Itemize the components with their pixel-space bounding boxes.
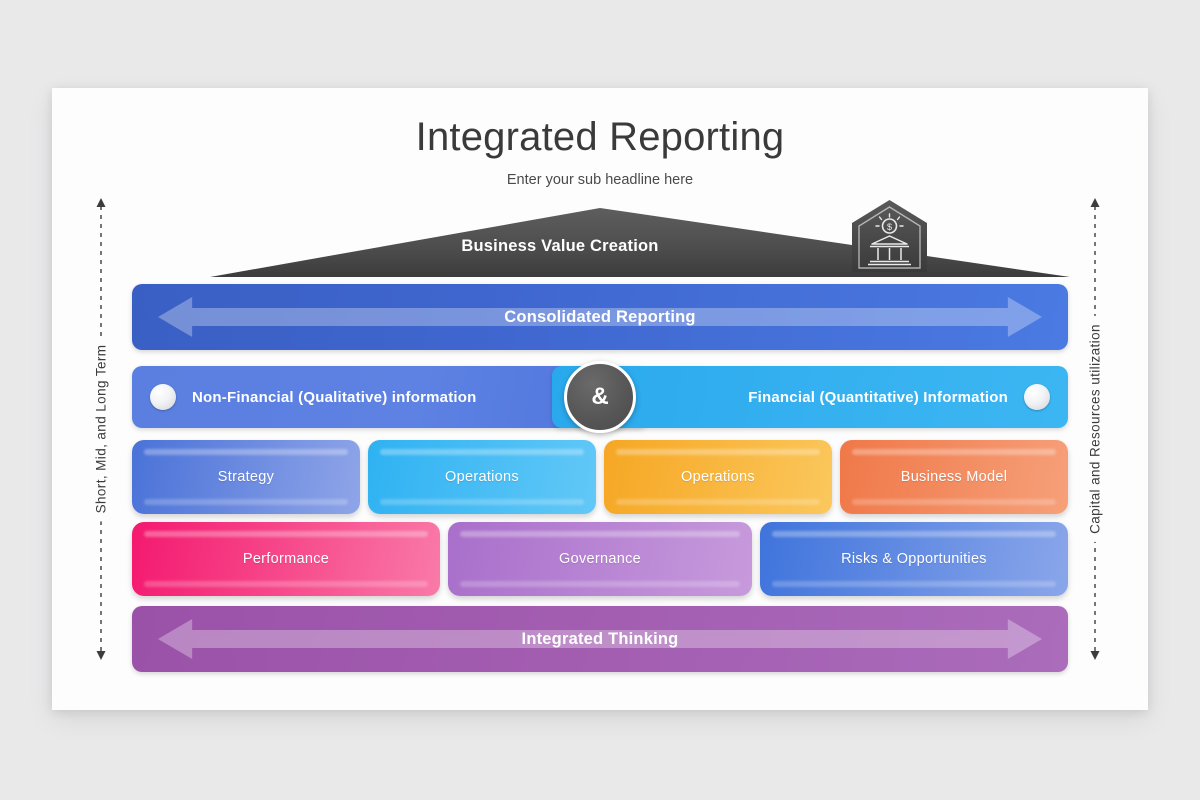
gloss-highlight	[144, 581, 428, 587]
rail-right: Capital and Resources utilization	[1072, 198, 1118, 660]
bar-consolidated-reporting[interactable]: Consolidated Reporting	[132, 284, 1068, 350]
card-label: Risks & Opportunities	[841, 551, 987, 567]
gloss-highlight	[380, 499, 584, 505]
card-operations-blue[interactable]: Operations	[368, 440, 596, 514]
bank-building-icon[interactable]: $	[847, 196, 932, 276]
rail-left-label: Short, Mid, and Long Term	[89, 337, 114, 522]
gloss-highlight	[772, 531, 1056, 537]
gloss-highlight	[852, 499, 1056, 505]
card-row-tri: Performance Governance Risks & Opportuni…	[132, 522, 1068, 596]
card-strategy[interactable]: Strategy	[132, 440, 360, 514]
card-label: Operations	[681, 469, 755, 485]
bank-badge-svg: $	[847, 196, 932, 276]
bar-integrated-thinking[interactable]: Integrated Thinking	[132, 606, 1068, 672]
gloss-highlight	[144, 449, 348, 455]
card-performance[interactable]: Performance	[132, 522, 440, 596]
card-label: Governance	[559, 551, 641, 567]
gloss-highlight	[852, 449, 1056, 455]
slide-canvas: Integrated Reporting Enter your sub head…	[0, 0, 1200, 800]
card-business-model[interactable]: Business Model	[840, 440, 1068, 514]
gloss-highlight	[460, 581, 740, 587]
rail-right-label: Capital and Resources utilization	[1083, 316, 1108, 542]
gloss-highlight	[144, 531, 428, 537]
ampersand-label: &	[591, 385, 608, 409]
card-operations-orange[interactable]: Operations	[604, 440, 832, 514]
card-risks-opportunities[interactable]: Risks & Opportunities	[760, 522, 1068, 596]
circle-dot-icon	[150, 384, 176, 410]
svg-text:$: $	[887, 222, 892, 232]
gloss-highlight	[616, 449, 820, 455]
roof-shape[interactable]: Business Value Creation $	[130, 205, 1070, 281]
bar-consolidated-label: Consolidated Reporting	[504, 308, 695, 327]
circle-dot-icon	[1024, 384, 1050, 410]
gloss-highlight	[144, 499, 348, 505]
bar-thinking-label: Integrated Thinking	[522, 630, 679, 649]
card-row-quad: Strategy Operations Operations Business …	[132, 440, 1068, 514]
gloss-highlight	[616, 499, 820, 505]
card-label: Operations	[445, 469, 519, 485]
info-row: Non-Financial (Qualitative) information …	[132, 366, 1068, 428]
card-governance[interactable]: Governance	[448, 522, 752, 596]
integrated-reporting-diagram: Business Value Creation $	[52, 88, 1148, 710]
card-label: Business Model	[901, 469, 1008, 485]
rail-left: Short, Mid, and Long Term	[78, 198, 124, 660]
slide-card: Integrated Reporting Enter your sub head…	[52, 88, 1148, 710]
gloss-highlight	[380, 449, 584, 455]
non-financial-label: Non-Financial (Qualitative) information	[192, 389, 476, 406]
card-label: Performance	[243, 551, 329, 567]
card-label: Strategy	[218, 469, 274, 485]
gloss-highlight	[772, 581, 1056, 587]
gloss-highlight	[460, 531, 740, 537]
ampersand-badge[interactable]: &	[564, 361, 636, 433]
financial-label: Financial (Quantitative) Information	[748, 389, 1008, 406]
